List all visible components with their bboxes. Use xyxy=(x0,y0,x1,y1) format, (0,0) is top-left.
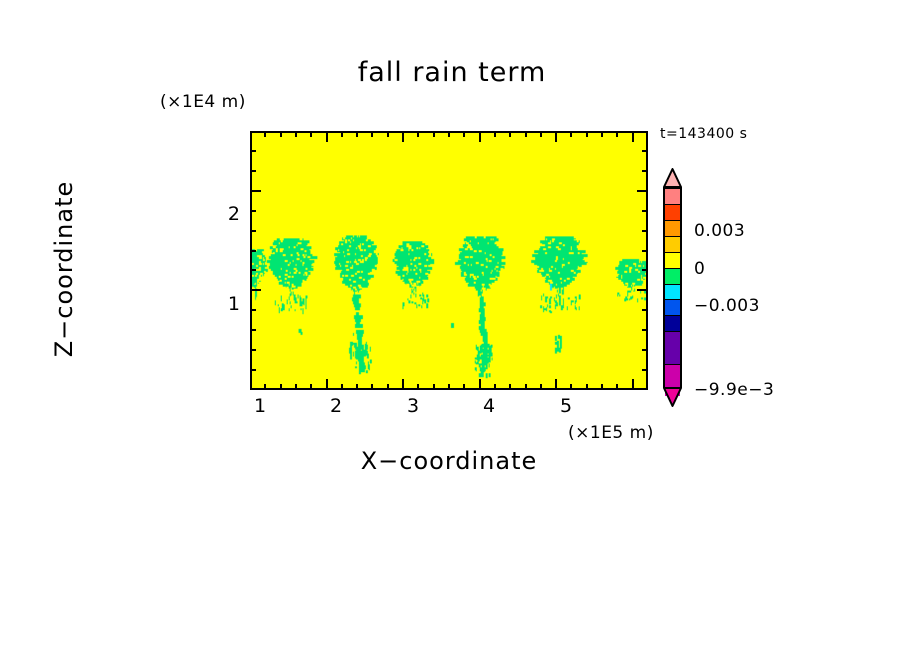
xtick-minor-top xyxy=(448,131,450,137)
ytick-minor-right xyxy=(642,150,648,152)
colorbar xyxy=(659,168,687,407)
colorbar-label-0: 0.003 xyxy=(694,221,745,241)
xtick-minor-top xyxy=(264,131,266,137)
xtick-minor-top xyxy=(341,131,343,137)
ytick-minor xyxy=(250,309,256,311)
ytick-major xyxy=(250,289,261,291)
colorbar-bands xyxy=(663,187,682,388)
xtick-minor xyxy=(570,384,572,390)
y-axis-title: Z−coordinate xyxy=(50,139,78,399)
colorbar-cap-top xyxy=(659,168,686,188)
xtick-major xyxy=(479,379,481,390)
ytick-minor xyxy=(250,150,256,152)
xtick-minor-top xyxy=(525,131,527,137)
ytick-minor-right xyxy=(642,210,648,212)
xtick-minor xyxy=(616,384,618,390)
colorbar-band-spring-green xyxy=(665,268,680,284)
colorbar-label-1: 0 xyxy=(694,259,705,279)
ytick-minor-right xyxy=(642,369,648,371)
xtick-minor-top xyxy=(494,131,496,137)
xtick-minor xyxy=(586,384,588,390)
xtick-major-top xyxy=(479,131,481,142)
xtick-label-1: 1 xyxy=(240,395,280,417)
xtick-minor-top xyxy=(509,131,511,137)
ytick-minor xyxy=(250,230,256,232)
ytick-major-right xyxy=(637,289,648,291)
xtick-minor xyxy=(463,384,465,390)
xtick-major-top xyxy=(326,131,328,142)
ytick-major xyxy=(250,190,261,192)
colorbar-label-3: −9.9e−3 xyxy=(694,380,774,400)
colorbar-band-orange xyxy=(665,220,680,236)
ytick-label-1: 1 xyxy=(214,293,240,315)
xtick-minor xyxy=(295,384,297,390)
xtick-minor xyxy=(387,384,389,390)
colorbar-band-navy xyxy=(665,315,680,331)
x-axis-title: X−coordinate xyxy=(250,447,648,475)
xtick-minor-top xyxy=(280,131,282,137)
xtick-major xyxy=(402,379,404,390)
colorbar-band-blue xyxy=(665,299,680,315)
ytick-minor-right xyxy=(642,230,648,232)
colorbar-band-yellow xyxy=(665,252,680,268)
contour-field xyxy=(252,133,646,388)
xtick-label-4: 4 xyxy=(469,395,509,417)
xtick-minor xyxy=(356,384,358,390)
ytick-minor-right xyxy=(642,329,648,331)
ytick-minor xyxy=(250,369,256,371)
colorbar-cap-bottom xyxy=(659,387,686,407)
xtick-minor-top xyxy=(601,131,603,137)
xtick-major xyxy=(326,379,328,390)
colorbar-band-cyan xyxy=(665,284,680,300)
x-axis-unit-label: (×1E5 m) xyxy=(568,423,654,443)
ytick-minor xyxy=(250,349,256,351)
ytick-minor-right xyxy=(642,349,648,351)
ytick-minor-right xyxy=(642,309,648,311)
xtick-minor xyxy=(264,384,266,390)
xtick-minor xyxy=(341,384,343,390)
colorbar-band-orange-red xyxy=(665,204,680,220)
xtick-minor xyxy=(433,384,435,390)
ytick-minor xyxy=(250,250,256,252)
xtick-minor xyxy=(280,384,282,390)
ytick-minor xyxy=(250,170,256,172)
xtick-label-3: 3 xyxy=(393,395,433,417)
xtick-minor xyxy=(448,384,450,390)
xtick-label-5: 5 xyxy=(546,395,586,417)
xtick-major xyxy=(555,379,557,390)
xtick-minor xyxy=(310,384,312,390)
xtick-minor-top xyxy=(371,131,373,137)
colorbar-band-gold xyxy=(665,236,680,252)
xtick-minor-top xyxy=(356,131,358,137)
y-axis-unit-label: (×1E4 m) xyxy=(160,92,246,112)
ytick-minor-right xyxy=(642,269,648,271)
ytick-minor xyxy=(250,329,256,331)
plot-area xyxy=(250,131,648,390)
ytick-label-2: 2 xyxy=(214,203,240,225)
xtick-minor xyxy=(601,384,603,390)
xtick-minor xyxy=(525,384,527,390)
xtick-minor-top xyxy=(616,131,618,137)
xtick-minor-top xyxy=(586,131,588,137)
ytick-major-right xyxy=(637,190,648,192)
time-annotation: t=143400 s xyxy=(660,126,747,142)
xtick-minor xyxy=(494,384,496,390)
xtick-minor-top xyxy=(417,131,419,137)
ytick-minor xyxy=(250,269,256,271)
xtick-minor-top xyxy=(570,131,572,137)
xtick-major-top xyxy=(632,131,634,142)
xtick-minor xyxy=(417,384,419,390)
xtick-major xyxy=(632,379,634,390)
colorbar-band-salmon xyxy=(665,189,680,204)
xtick-minor-top xyxy=(295,131,297,137)
xtick-major-top xyxy=(555,131,557,142)
xtick-label-2: 2 xyxy=(316,395,356,417)
ytick-minor xyxy=(250,210,256,212)
xtick-minor-top xyxy=(463,131,465,137)
colorbar-label-2: −0.003 xyxy=(694,296,760,316)
xtick-minor xyxy=(371,384,373,390)
xtick-minor-top xyxy=(540,131,542,137)
ytick-minor-right xyxy=(642,170,648,172)
xtick-minor-top xyxy=(310,131,312,137)
xtick-minor-top xyxy=(433,131,435,137)
chart-title: fall rain term xyxy=(0,57,904,88)
xtick-major-top xyxy=(402,131,404,142)
ytick-minor-right xyxy=(642,250,648,252)
xtick-minor xyxy=(540,384,542,390)
xtick-minor xyxy=(509,384,511,390)
xtick-minor-top xyxy=(387,131,389,137)
colorbar-band-purple xyxy=(665,331,680,363)
